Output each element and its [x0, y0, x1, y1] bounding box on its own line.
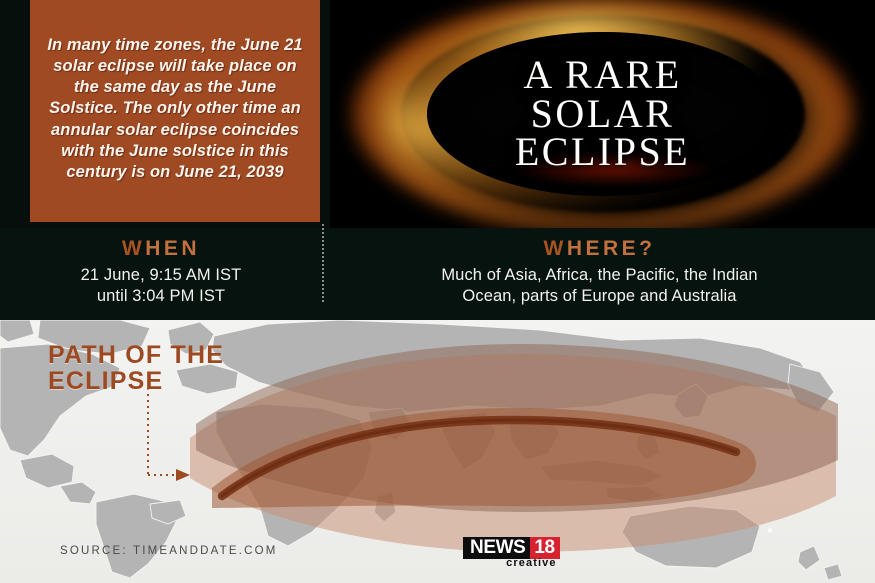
fact-panel-text: In many time zones, the June 21 solar ec… — [44, 35, 306, 183]
logo-tagline: creative — [506, 557, 556, 569]
when-heading-initial: W — [122, 237, 145, 260]
path-label-line-2: ECLIPSE — [48, 368, 224, 394]
where-line-2: Ocean, parts of Europe and Australia — [441, 286, 757, 307]
logo-18-badge: 18 — [530, 537, 559, 559]
logo-wordmark: NEWS 18 — [463, 537, 560, 559]
when-column: WHEN 21 June, 9:15 AM IST until 3:04 PM … — [0, 228, 322, 320]
logo-news-text: NEWS — [463, 537, 530, 559]
fact-panel: In many time zones, the June 21 solar ec… — [30, 0, 320, 222]
map-section: PATH OF THE ECLIPSE SOURCE: TIMEANDDATE.… — [0, 320, 875, 583]
source-attribution: SOURCE: TIMEANDDATE.COM — [60, 545, 278, 557]
path-label-line-1: PATH OF THE — [48, 342, 224, 368]
where-body: Much of Asia, Africa, the Pacific, the I… — [441, 265, 757, 307]
when-heading-rest: HEN — [145, 237, 200, 260]
arrow-icon — [176, 469, 190, 481]
header-section: A RARE SOLAR ECLIPSE In many time zones,… — [0, 0, 875, 320]
eclipse-photo: A RARE SOLAR ECLIPSE — [330, 0, 875, 228]
where-heading-rest: HERE? — [567, 237, 656, 260]
title-line-2: SOLAR — [531, 95, 675, 133]
when-line-1: 21 June, 9:15 AM IST — [81, 265, 242, 286]
path-of-eclipse-label: PATH OF THE ECLIPSE — [48, 342, 224, 394]
where-heading-initial: W — [543, 237, 566, 260]
title-line-3: ECLIPSE — [515, 133, 690, 171]
when-heading: WHEN — [122, 237, 200, 261]
where-column: WHERE? Much of Asia, Africa, the Pacific… — [324, 228, 875, 320]
when-line-2: until 3:04 PM IST — [81, 286, 242, 307]
when-where-row: WHEN 21 June, 9:15 AM IST until 3:04 PM … — [0, 228, 875, 320]
title-line-1: A RARE — [523, 56, 681, 94]
page-title: A RARE SOLAR ECLIPSE — [330, 0, 875, 228]
where-heading: WHERE? — [543, 237, 655, 261]
where-line-1: Much of Asia, Africa, the Pacific, the I… — [441, 265, 757, 286]
news18-logo: NEWS 18 creative — [463, 537, 560, 569]
when-body: 21 June, 9:15 AM IST until 3:04 PM IST — [81, 265, 242, 307]
eclipse-infographic: A RARE SOLAR ECLIPSE In many time zones,… — [0, 0, 875, 583]
